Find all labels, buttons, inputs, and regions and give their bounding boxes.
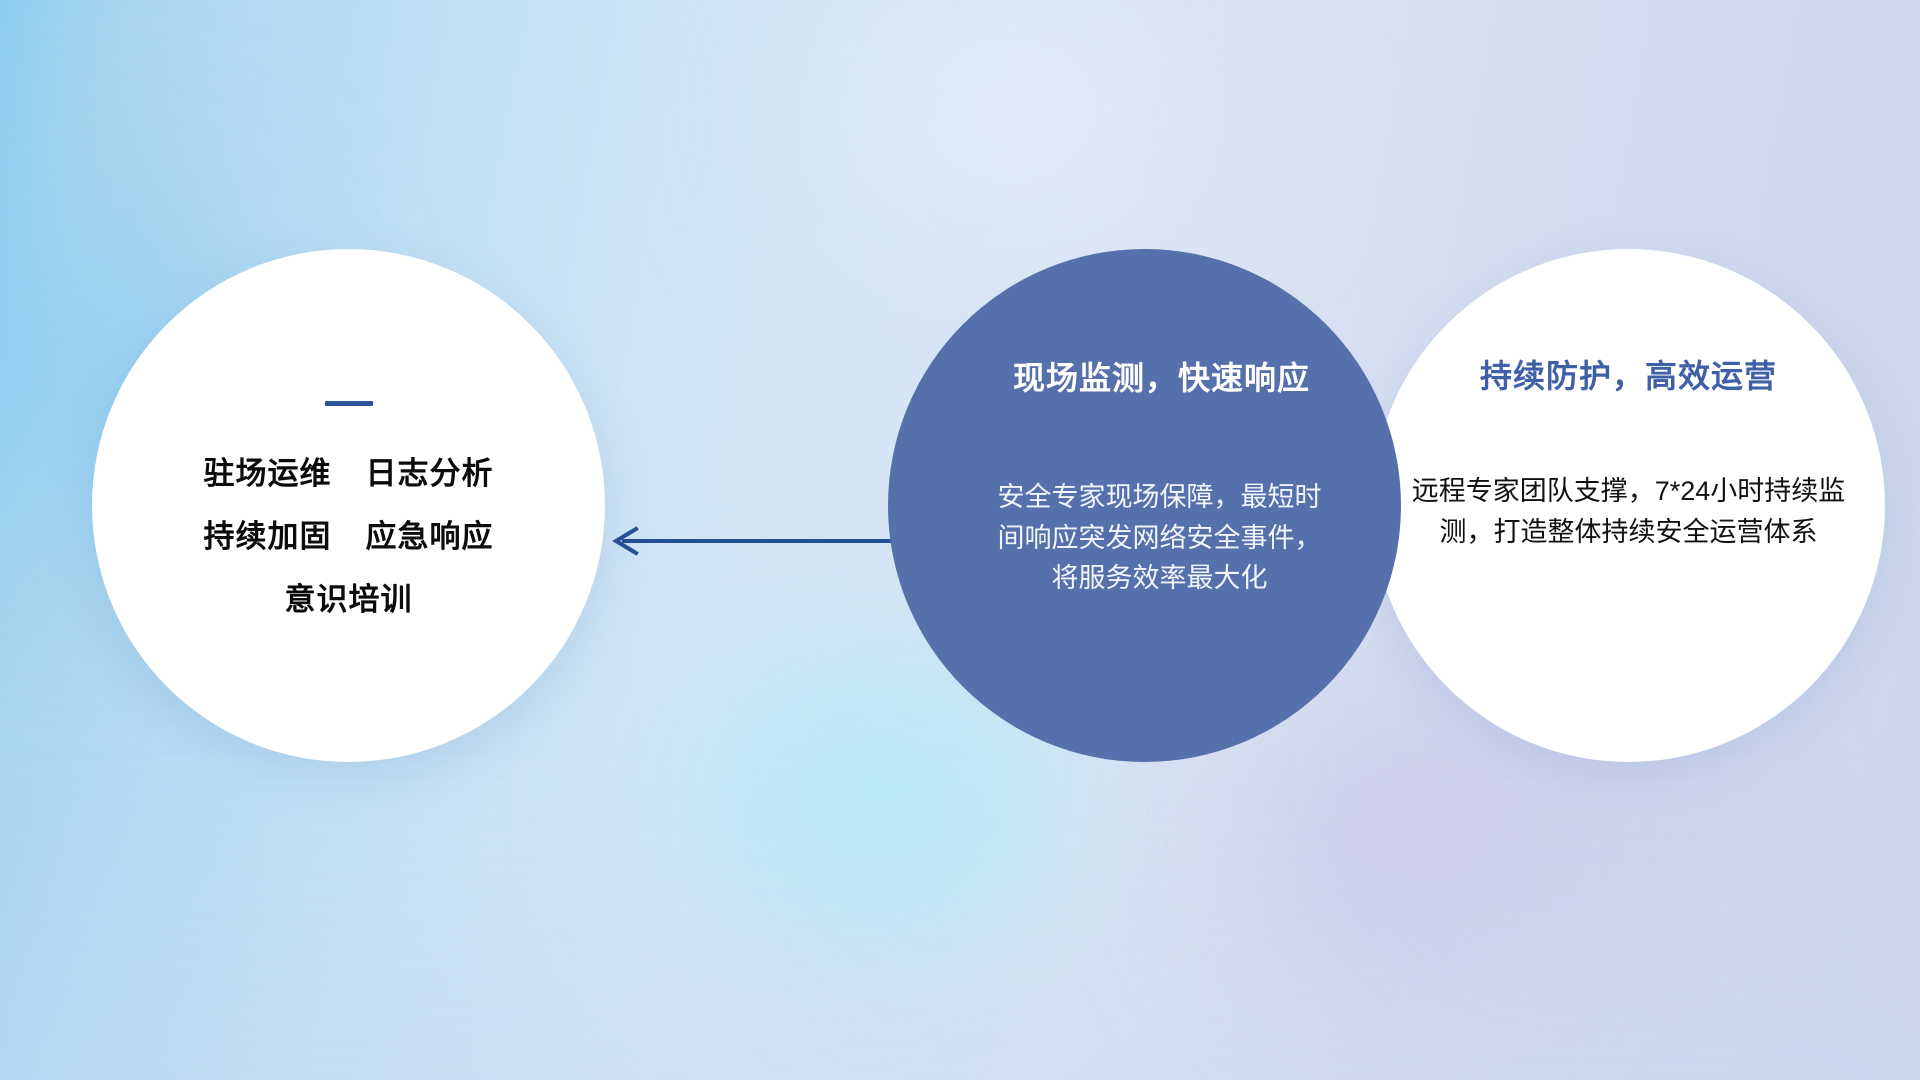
mid-circle-title: 现场监测，快速响应 bbox=[1013, 353, 1310, 399]
service-label: 意识培训 bbox=[285, 584, 413, 615]
service-label: 持续加固 bbox=[204, 521, 332, 552]
right-circle-title: 持续防护，高效运营 bbox=[1480, 351, 1777, 397]
service-label: 驻场运维 bbox=[204, 458, 332, 489]
continuous-protection-circle: 持续防护，高效运营 远程专家团队支撑，7*24小时持续监测，打造整体持续安全运营… bbox=[1372, 249, 1885, 762]
arrow-left-svg bbox=[600, 520, 900, 562]
left-circle-content: 驻场运维 日志分析 持续加固 应急响应 意识培训 bbox=[92, 249, 605, 762]
divider-dash bbox=[325, 401, 373, 406]
mid-circle-body: 安全专家现场保障，最短时间响应突发网络安全事件，将服务效率最大化 bbox=[995, 477, 1325, 599]
right-circle-body: 远程专家团队支撑，7*24小时持续监测，打造整体持续安全运营体系 bbox=[1410, 471, 1848, 552]
service-row: 意识培训 bbox=[285, 584, 413, 615]
left-service-circle: 驻场运维 日志分析 持续加固 应急响应 意识培训 bbox=[92, 249, 605, 762]
service-row: 驻场运维 日志分析 bbox=[204, 458, 494, 489]
onsite-monitoring-circle: 现场监测，快速响应 安全专家现场保障，最短时间响应突发网络安全事件，将服务效率最… bbox=[888, 249, 1401, 762]
arrow-left-icon bbox=[600, 520, 900, 562]
service-label: 应急响应 bbox=[366, 521, 494, 552]
background-glow-bottom bbox=[0, 820, 1920, 1080]
service-label: 日志分析 bbox=[366, 458, 494, 489]
row-spacer bbox=[332, 521, 366, 552]
service-row: 持续加固 应急响应 bbox=[204, 521, 494, 552]
row-spacer bbox=[332, 458, 366, 489]
mid-circle-content: 现场监测，快速响应 安全专家现场保障，最短时间响应突发网络安全事件，将服务效率最… bbox=[888, 249, 1401, 762]
right-circle-content: 持续防护，高效运营 远程专家团队支撑，7*24小时持续监测，打造整体持续安全运营… bbox=[1372, 249, 1885, 762]
